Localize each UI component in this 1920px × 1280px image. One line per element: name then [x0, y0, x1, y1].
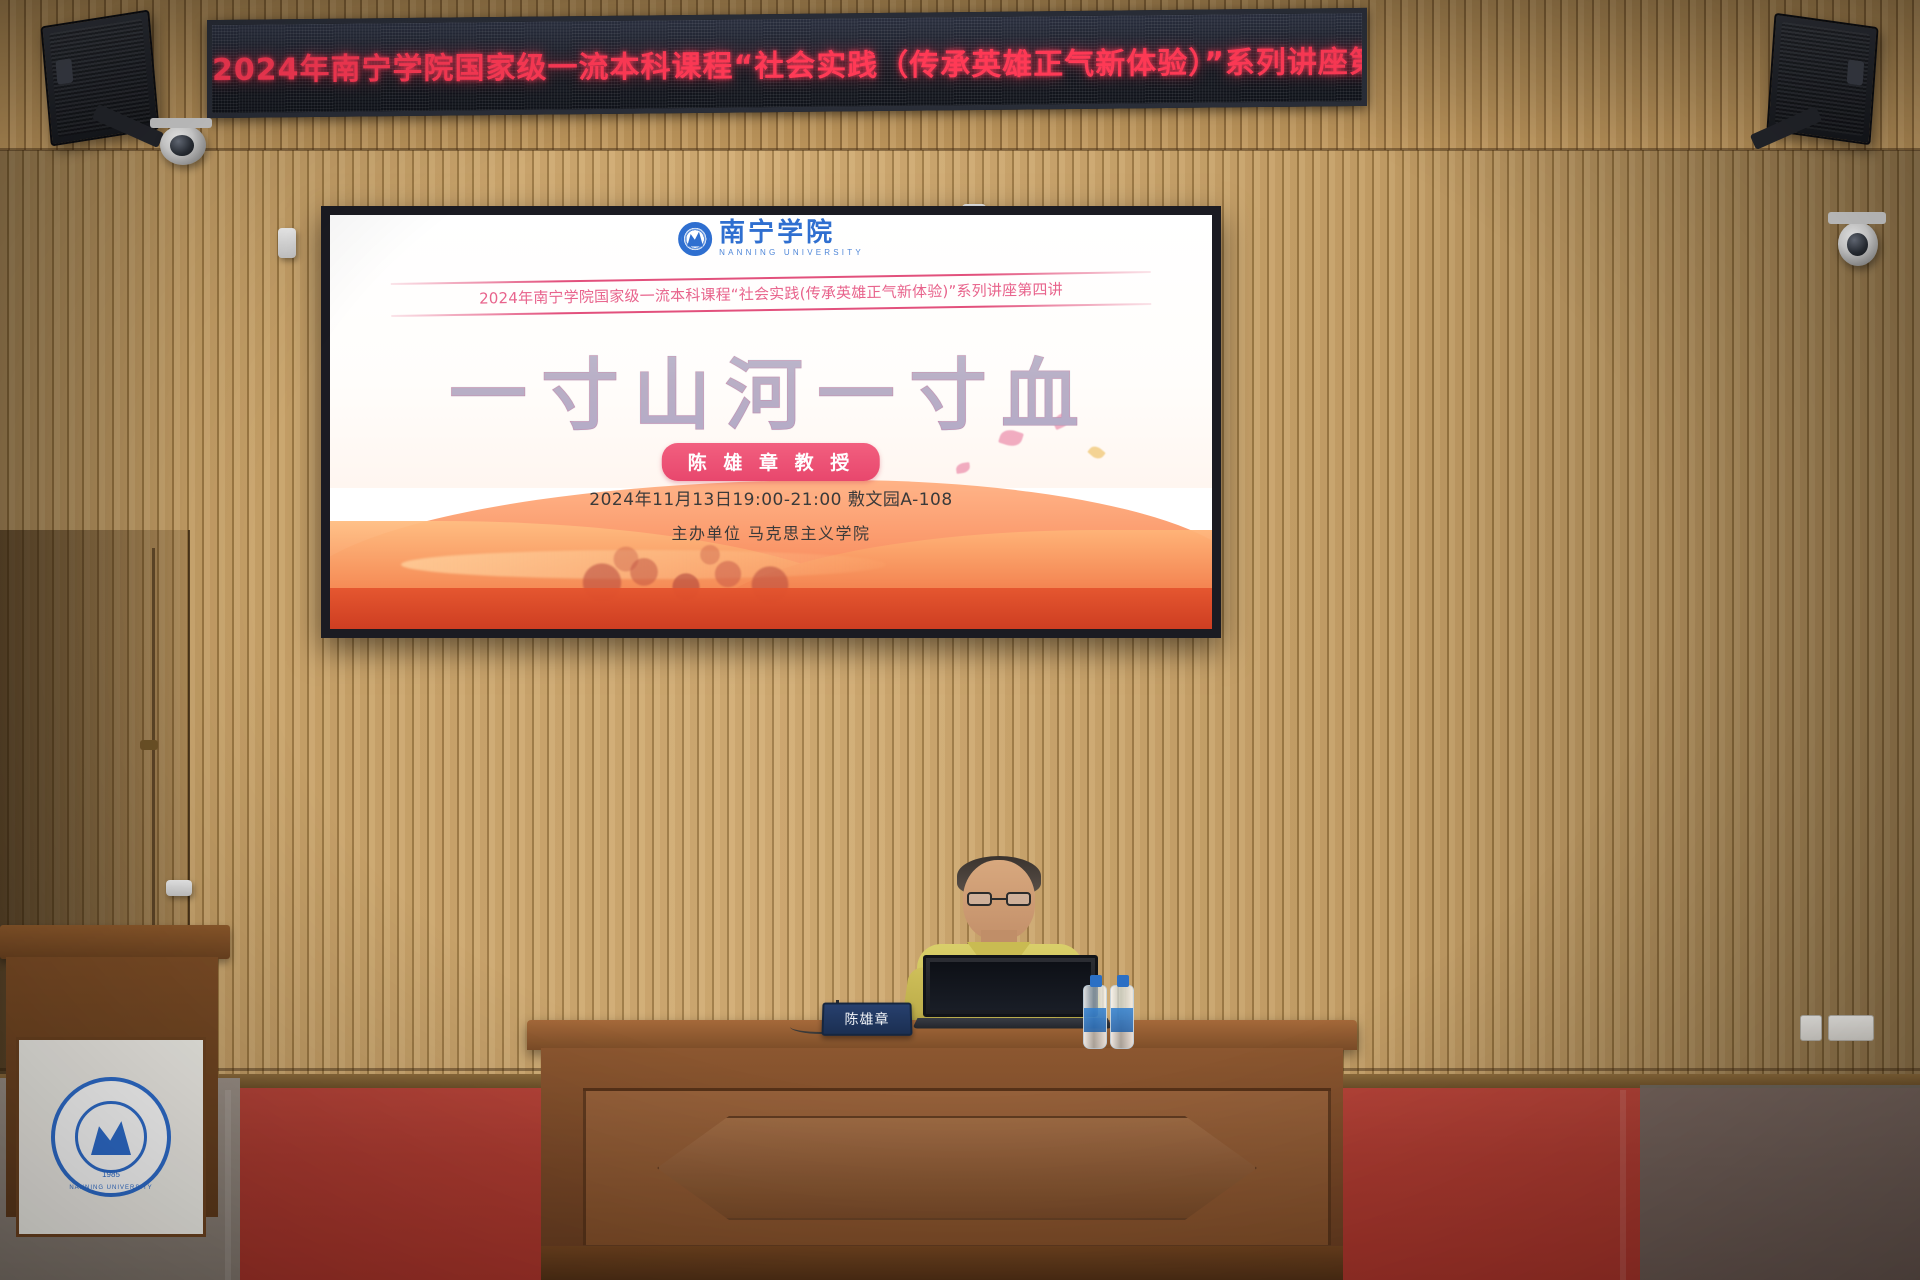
led-banner-text: 2024年南宁学院国家级一流本科课程“社会实践（传承英雄正气新体验）”系列讲座第…	[212, 37, 1362, 89]
desk-nameplate: 陈雄章	[821, 1003, 912, 1036]
logo-name-en: NANNING UNIVERSITY	[719, 249, 864, 257]
university-emblem-icon	[678, 222, 712, 256]
camera-mount-right	[1828, 212, 1886, 224]
slide-main-title: 一寸山河一寸血	[449, 333, 1093, 445]
podium-logo-ring-text: NANNING UNIVERSITY	[69, 1185, 152, 1191]
logo-name-cn: 南宁学院	[719, 220, 864, 246]
slide-ground-band	[330, 588, 1212, 629]
slide-datetime-venue: 2024年11月13日19:00-21:00 敷文园A-108	[589, 485, 952, 510]
desk-nameplate-text: 陈雄章	[844, 1009, 889, 1029]
wall-switch-right[interactable]	[1800, 1015, 1822, 1041]
wall-outlet-right[interactable]	[1828, 1015, 1874, 1041]
projection-screen: 南宁学院 NANNING UNIVERSITY 2024年南宁学院国家级一流本科…	[321, 206, 1221, 638]
desk-diamond-inlay	[657, 1116, 1257, 1220]
glasses-bridge	[992, 898, 1006, 900]
dome-camera-left	[160, 125, 206, 165]
podium-front-panel: 1985 NANNING UNIVERSITY	[16, 1037, 206, 1237]
lens-left	[967, 892, 992, 906]
dome-camera-right	[1838, 222, 1878, 266]
podium-logo-year: 1985	[102, 1170, 120, 1179]
door-handle[interactable]	[140, 740, 158, 750]
speaker-port	[55, 58, 73, 84]
laptop[interactable]	[915, 955, 1110, 1033]
laptop-lid	[923, 955, 1098, 1017]
door-edge-line	[152, 548, 155, 968]
podium-top-surface	[0, 925, 230, 959]
camera-lens-icon	[170, 135, 194, 156]
led-banner: 2024年南宁学院国家级一流本科课程“社会实践（传承英雄正气新体验）”系列讲座第…	[207, 8, 1367, 118]
slide-university-logo: 南宁学院 NANNING UNIVERSITY	[678, 220, 864, 257]
bottle-label	[1084, 1008, 1106, 1032]
wall-seam-upper	[0, 148, 1920, 151]
podium-university-logo: 1985 NANNING UNIVERSITY	[51, 1077, 171, 1197]
lecture-hall-photo: 2024年南宁学院国家级一流本科课程“社会实践（传承英雄正气新体验）”系列讲座第…	[0, 0, 1920, 1280]
desk-front-panel	[583, 1088, 1331, 1248]
water-bottle-2[interactable]	[1110, 985, 1134, 1049]
podium-emblem-icon	[75, 1101, 147, 1173]
presenter-desk	[527, 1020, 1357, 1280]
lens-right	[1006, 892, 1031, 906]
camera-mount-left	[150, 118, 212, 128]
carpet-seam-right	[1620, 1090, 1626, 1280]
logo-wordmark: 南宁学院 NANNING UNIVERSITY	[719, 220, 864, 257]
water-bottle-1[interactable]	[1083, 985, 1107, 1049]
camera-lens-icon	[1847, 233, 1868, 256]
floor-tile-right	[1640, 1085, 1920, 1280]
slide-speaker-badge: 陈 雄 章 教 授	[662, 443, 880, 481]
wall-sensor-low-left	[166, 880, 192, 896]
speaker-port	[1847, 59, 1865, 85]
bottle-label	[1111, 1008, 1133, 1032]
eyeglasses-icon	[967, 892, 1031, 906]
wall-sensor-left	[278, 228, 296, 258]
laptop-screen[interactable]	[930, 962, 1091, 1010]
podium-body: 1985 NANNING UNIVERSITY	[6, 957, 218, 1217]
presentation-slide: 南宁学院 NANNING UNIVERSITY 2024年南宁学院国家级一流本科…	[330, 215, 1212, 629]
slide-organizer: 主办单位 马克思主义学院	[671, 520, 870, 544]
lectern-podium[interactable]: 1985 NANNING UNIVERSITY	[0, 925, 230, 1280]
desk-bottom-edge	[541, 1246, 1343, 1280]
